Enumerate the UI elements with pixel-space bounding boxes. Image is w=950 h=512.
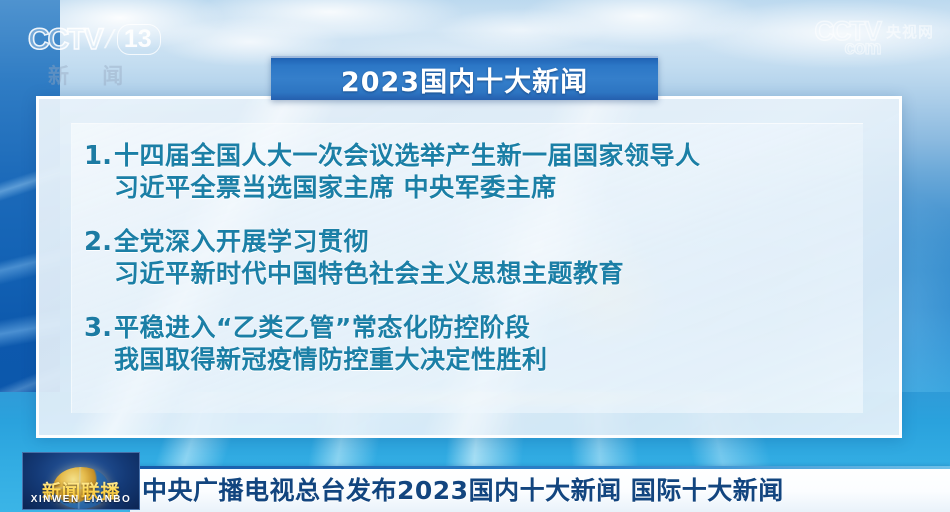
- xinwen-lianbo-logo: 新闻联播 XINWEN LIANBO: [22, 452, 140, 510]
- list-item: 1. 十四届全国人大一次会议选举产生新一届国家领导人 习近平全票当选国家主席 中…: [84, 140, 866, 204]
- list-item-lines: 平稳进入“乙类乙管”常态化防控阶段 我国取得新冠疫情防控重大决定性胜利: [114, 312, 548, 376]
- list-item-line: 平稳进入“乙类乙管”常态化防控阶段: [114, 312, 548, 344]
- news-headline-list: 1. 十四届全国人大一次会议选举产生新一届国家领导人 习近平全票当选国家主席 中…: [84, 140, 866, 376]
- logo-slash: /: [102, 24, 117, 55]
- broadcast-screen: CCTV / 13 新 闻 CCTV com 央视网 2023国内十大新闻 1.…: [0, 0, 950, 512]
- cctv-wordmark: CCTV: [28, 25, 102, 55]
- list-item-line: 我国取得新冠疫情防控重大决定性胜利: [114, 344, 548, 376]
- list-item-lines: 十四届全国人大一次会议选举产生新一届国家领导人 习近平全票当选国家主席 中央军委…: [114, 140, 701, 204]
- list-item-line: 十四届全国人大一次会议选举产生新一届国家领导人: [114, 140, 701, 172]
- cctv13-channel-logo: CCTV / 13: [28, 24, 161, 55]
- lower-third: 中央广播电视总台发布2023国内十大新闻 国际十大新闻 新闻联播 XINWEN …: [0, 450, 950, 512]
- list-item-number: 2.: [84, 226, 114, 259]
- list-item-number: 1.: [84, 140, 114, 173]
- news-watermark-label: 新 闻: [48, 60, 136, 90]
- ticker-headline: 中央广播电视总台发布2023国内十大新闻 国际十大新闻: [130, 471, 784, 507]
- list-item-line: 全党深入开展学习贯彻: [114, 226, 624, 258]
- list-item-lines: 全党深入开展学习贯彻 习近平新时代中国特色社会主义思想主题教育: [114, 226, 624, 290]
- page-title: 2023国内十大新闻: [341, 60, 588, 99]
- list-item: 3. 平稳进入“乙类乙管”常态化防控阶段 我国取得新冠疫情防控重大决定性胜利: [84, 312, 866, 376]
- program-name-pinyin: XINWEN LIANBO: [23, 494, 139, 505]
- list-item: 2. 全党深入开展学习贯彻 习近平新时代中国特色社会主义思想主题教育: [84, 226, 866, 290]
- ticker-bar: 中央广播电视总台发布2023国内十大新闻 国际十大新闻: [130, 466, 950, 512]
- list-item-number: 3.: [84, 312, 114, 345]
- channel-number-badge: 13: [117, 24, 161, 55]
- title-banner: 2023国内十大新闻: [271, 56, 658, 100]
- list-item-line: 习近平新时代中国特色社会主义思想主题教育: [114, 258, 624, 290]
- list-item-line: 习近平全票当选国家主席 中央军委主席: [114, 172, 701, 204]
